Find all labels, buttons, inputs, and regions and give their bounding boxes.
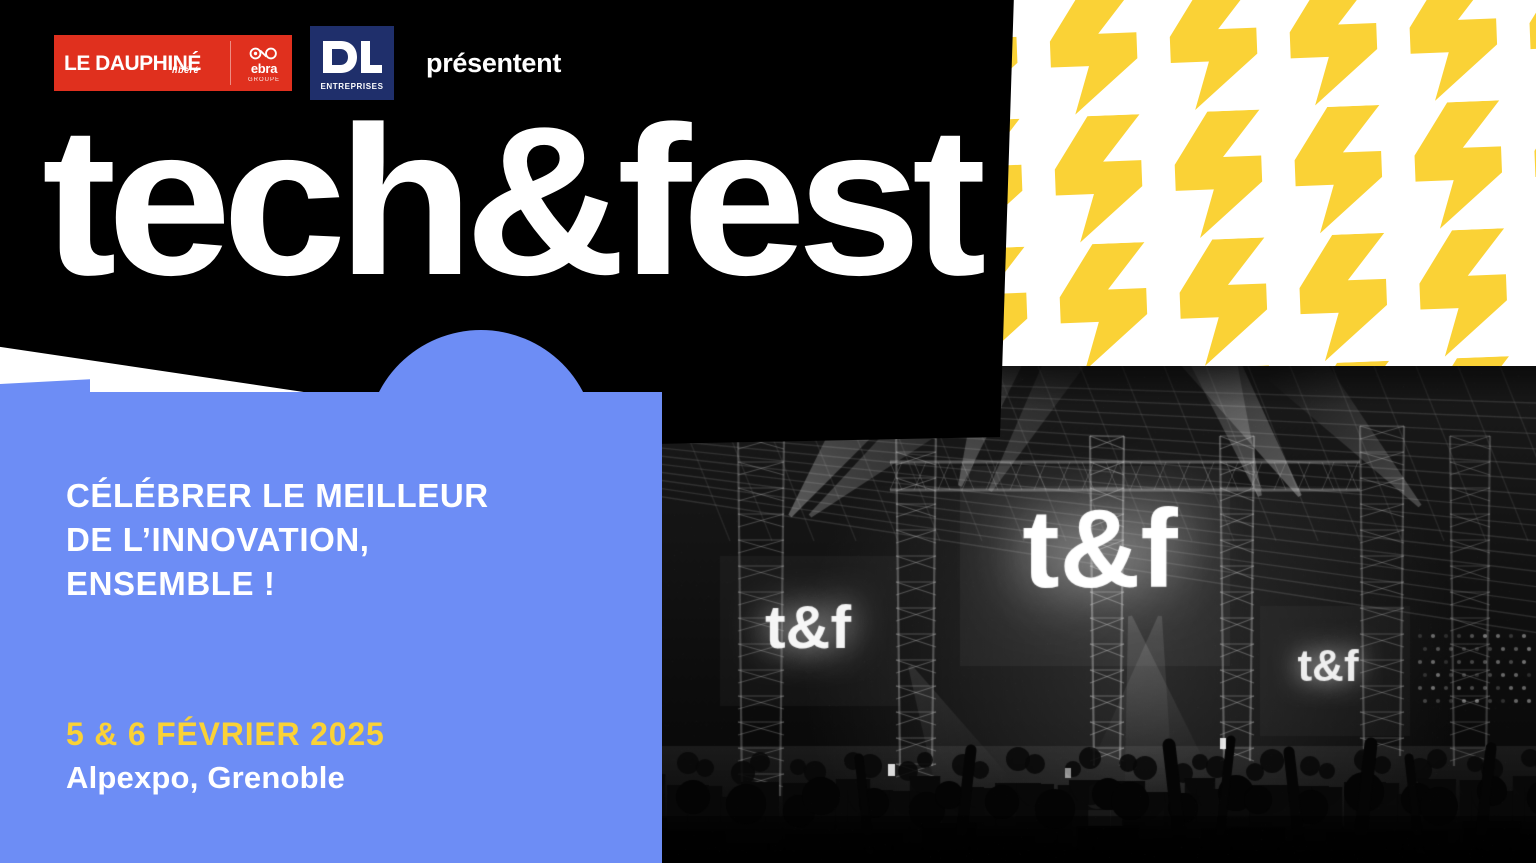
ebra-logo: ebra GROUPE — [240, 40, 288, 88]
dl-entreprises-logo: ENTREPRISES — [310, 26, 394, 100]
tagline-line-3: ENSEMBLE ! — [66, 562, 489, 606]
lightning-bolt-icon — [1157, 109, 1280, 239]
event-venue: Alpexpo, Grenoble — [66, 758, 385, 798]
event-date: 5 & 6 FÉVRIER 2025 — [66, 714, 385, 754]
presents-label: présentent — [426, 48, 561, 79]
tagline-block: CÉLÉBRER LE MEILLEUR DE L’INNOVATION, EN… — [66, 474, 489, 607]
logo-divider — [230, 41, 231, 85]
ebra-infinity-icon — [247, 46, 281, 61]
lightning-bolt-icon — [1517, 95, 1536, 225]
lightning-bolt-icon — [1522, 223, 1536, 353]
lightning-bolt-icon — [1152, 0, 1275, 112]
lightning-bolt-icon — [1282, 232, 1405, 362]
lightning-bolt-icon — [1272, 0, 1395, 107]
lightning-bolt-icon — [1392, 0, 1515, 102]
event-details: 5 & 6 FÉVRIER 2025 Alpexpo, Grenoble — [66, 714, 385, 798]
lightning-bolt-icon — [1397, 100, 1520, 230]
lightning-bolt-icon — [1037, 114, 1160, 244]
tagline-line-1: CÉLÉBRER LE MEILLEUR — [66, 474, 489, 518]
lightning-bolt-icon — [1512, 0, 1536, 98]
tagline-line-2: DE L’INNOVATION, — [66, 518, 489, 562]
le-dauphine-logo: LE DAUPHINÉ libéré ebra GROUPE — [54, 35, 292, 91]
dl-entreprises-label: ENTREPRISES — [320, 82, 383, 91]
tech-and-fest-wordmark: tech&fest — [42, 112, 1002, 312]
ebra-groupe-label: GROUPE — [248, 77, 280, 83]
lightning-bolt-icon — [1277, 104, 1400, 234]
ebra-name: ebra — [251, 62, 277, 75]
lightning-bolt-icon — [1162, 237, 1285, 367]
dl-monogram-icon — [321, 39, 383, 75]
page-title: tech&fest — [42, 112, 1002, 312]
lightning-pattern-band — [940, 0, 1536, 374]
lightning-bolt-icon — [1042, 241, 1165, 371]
lightning-bolt-icon — [1032, 0, 1155, 116]
lightning-pattern-grid — [940, 0, 1536, 374]
sponsor-header: LE DAUPHINÉ libéré ebra GROUPE — [54, 26, 561, 100]
tech-and-fest-text: tech&fest — [42, 112, 985, 312]
le-dauphine-tagline: libéré — [172, 65, 199, 75]
event-poster: LE DAUPHINÉ libéré ebra GROUPE — [0, 0, 1536, 863]
lightning-bolt-icon — [1402, 228, 1525, 358]
